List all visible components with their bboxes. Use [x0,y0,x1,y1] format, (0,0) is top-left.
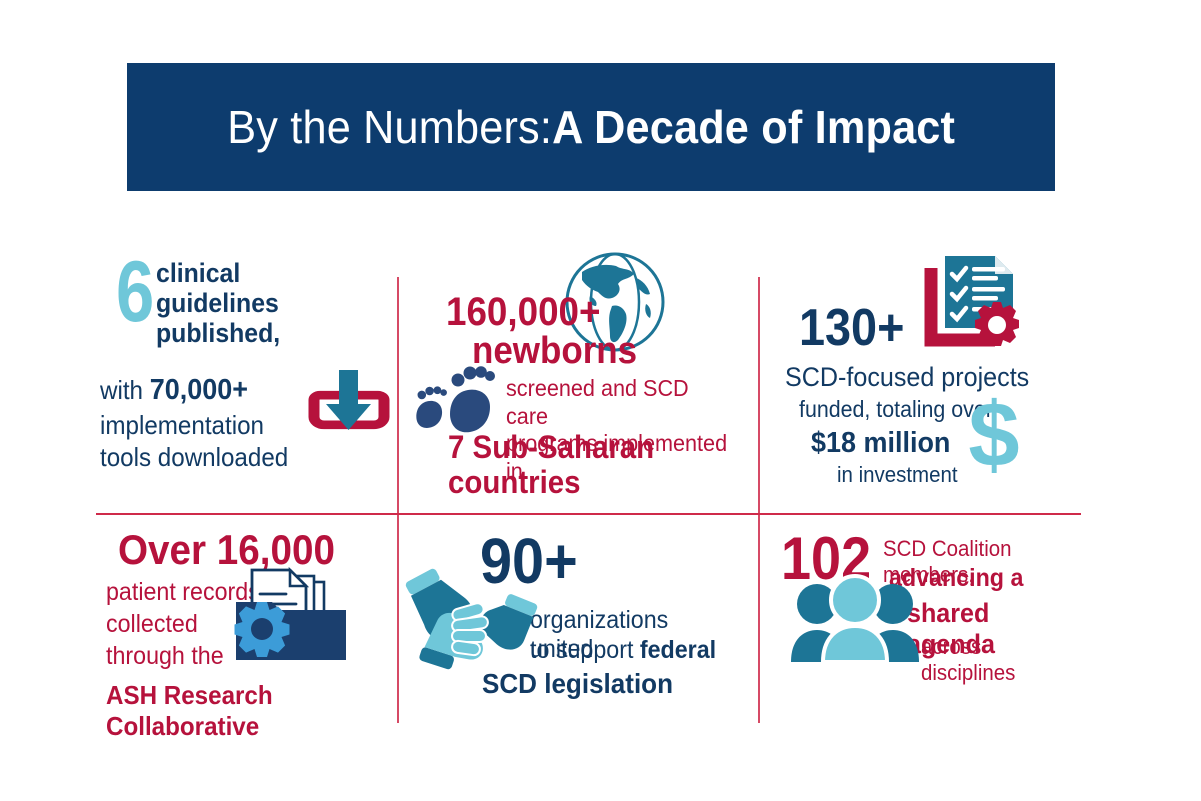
stat-1-number: 6 [116,258,154,327]
stat-2-emphasis: 7 Sub-Saharan countries [448,430,654,499]
grid-divider-horizontal [96,513,1081,515]
stat-clinical-guidelines: 6 clinical guidelines published, with 70… [96,250,386,508]
page-title-light: By the Numbers: [227,101,552,153]
stat-3-number: 130+ [799,298,904,358]
stat-6-line-5: across disciplines [921,634,1070,686]
infographic-page: By the Numbers:A Decade of Impact 6 clin… [0,0,1201,801]
clasped-hands-icon [408,560,532,688]
stat-1-label: clinical guidelines published, [156,258,280,349]
stat-1-sub: with 70,000+ implementation tools downlo… [100,372,288,474]
header-banner: By the Numbers:A Decade of Impact [127,63,1055,191]
stat-1-headline: 6 clinical guidelines published, [116,258,291,349]
stat-5-line-3: to support federal [530,636,716,665]
stat-1-label-line-3: published, [156,318,280,348]
stat-organizations-united: 90+ organizations united to support fede… [408,522,748,730]
stat-2-emphasis-line-1: 7 Sub-Saharan [448,430,654,465]
stat-scd-focused-projects: 130+ SCD-focused projects funded, totali… [771,250,1081,508]
stats-grid: 6 clinical guidelines published, with 70… [96,250,1081,730]
stat-3-line-5: in investment [837,462,958,488]
stat-scd-coalition-members: 102 SCD Coalition members, advancing a s… [771,522,1081,730]
stat-patient-records: Over 16,000 patient records collected th… [96,522,386,730]
page-title: By the Numbers:A Decade of Impact [227,104,955,150]
stat-1-sub-strong: 70,000+ [150,374,248,406]
stat-1-label-line-1: clinical [156,258,280,288]
stat-1-sub-line-2: implementation [100,409,288,442]
stat-3-amount: $18 million [811,427,950,460]
download-icon [314,368,384,448]
people-group-icon [791,578,919,662]
stat-1-sub-line-1: with 70,000+ [100,372,288,409]
stat-1-label-line-2: guidelines [156,288,280,318]
stat-4-emphasis: ASH Research Collaborative [106,680,366,742]
stat-1-sub-line-3: tools downloaded [100,441,288,474]
stat-2-description-line-1: screened and SCD care [506,375,733,430]
folder-documents-gear-icon [228,564,354,668]
clipboard-checklist-gear-icon [909,252,1023,358]
stat-2-number: 160,000+ [446,290,601,335]
dollar-sign-icon: $ [961,390,1027,480]
stat-5-line-3b: federal [640,636,716,664]
stat-5-line-3a: to support [530,636,640,664]
stat-2-emphasis-line-2: countries [448,465,654,500]
grid-divider-vertical-1 [397,277,399,723]
page-title-bold: A Decade of Impact [552,101,955,153]
svg-text:$: $ [968,384,1019,486]
grid-divider-vertical-2 [758,277,760,723]
stat-1-sub-prefix: with [100,375,150,405]
stat-newborns-screened: 160,000+ newborns [408,250,748,508]
